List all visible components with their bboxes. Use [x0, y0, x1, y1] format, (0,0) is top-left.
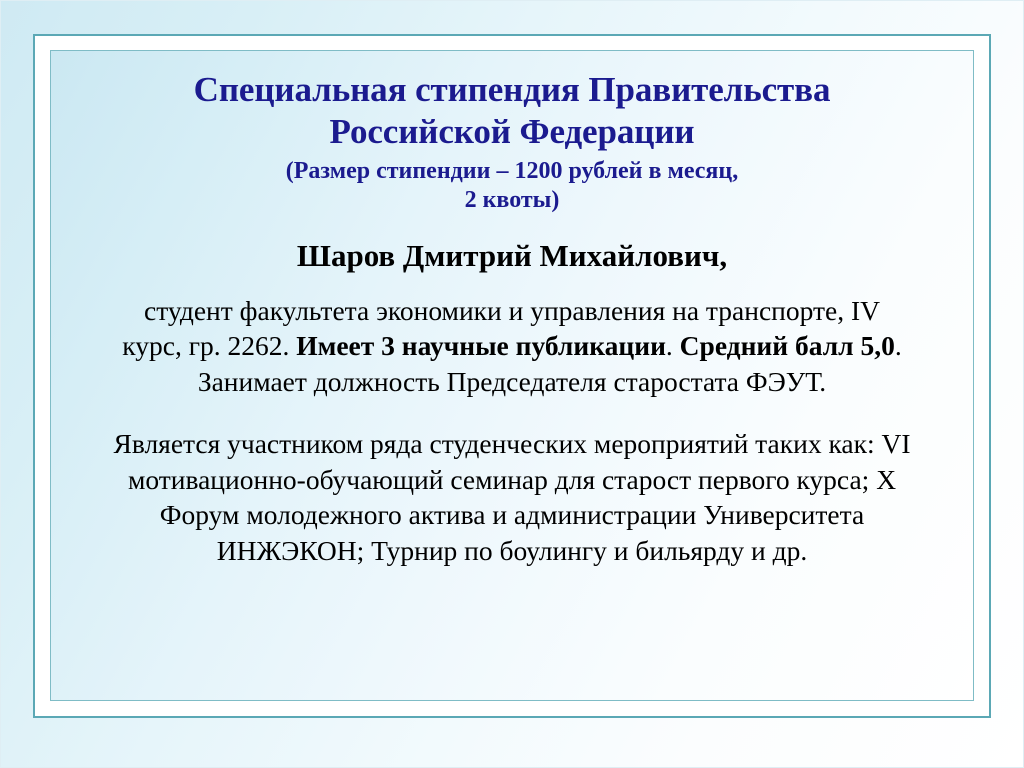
paragraph-activities: Является участником ряда студенческих ме…	[107, 426, 917, 569]
slide-content: Специальная стипендия Правительства Росс…	[51, 51, 973, 700]
title-line-1: Специальная стипендия Правительства	[194, 70, 831, 109]
bio-segment-sep1: .	[666, 330, 680, 361]
bio-segment-publications: Имеет 3 научные публикации	[296, 330, 666, 361]
decorative-frame-inner: Специальная стипендия Правительства Росс…	[50, 50, 974, 701]
page-title: Специальная стипендия Правительства Росс…	[107, 69, 917, 153]
subtitle-line-1: (Размер стипендии – 1200 рублей в месяц,	[286, 158, 738, 184]
subtitle-line-2: 2 квоты)	[465, 187, 560, 213]
title-line-2: Российской Федерации	[330, 112, 695, 151]
slide-canvas: Специальная стипендия Правительства Росс…	[0, 0, 1024, 768]
person-name: Шаров Дмитрий Михайлович,	[107, 237, 917, 274]
paragraph-biography: студент факультета экономики и управлени…	[107, 293, 917, 400]
bio-segment-gpa: Средний балл 5,0	[680, 330, 895, 361]
page-subtitle: (Размер стипендии – 1200 рублей в месяц,…	[107, 157, 917, 216]
decorative-frame-outer: Специальная стипендия Правительства Росс…	[33, 34, 991, 718]
